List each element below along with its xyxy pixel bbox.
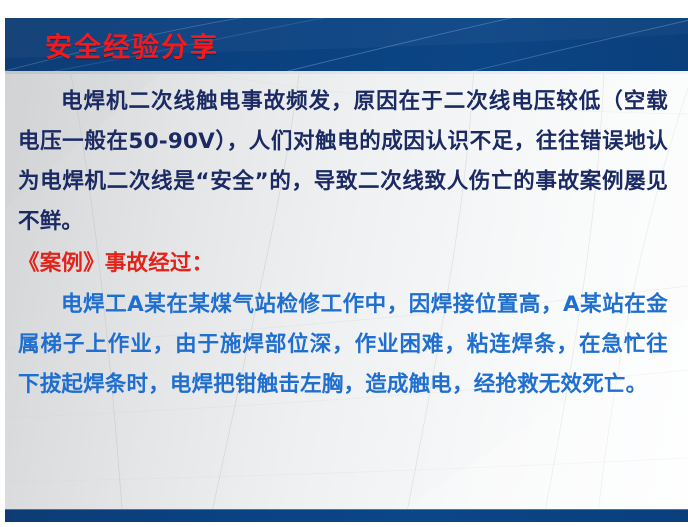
slide-footer-band bbox=[5, 509, 688, 522]
paragraph-background-description: 电焊机二次线触电事故频发，原因在于二次线电压较低（空载电压一般在50-90V），… bbox=[18, 82, 668, 242]
slide-header-band: 安全经验分享 bbox=[5, 18, 688, 71]
header-divider bbox=[5, 71, 688, 74]
presentation-slide: 安全经验分享 电焊机二次线触电事故频发，原因在于二次线电压较低（空载电压一般在5… bbox=[0, 0, 688, 527]
page-title: 安全经验分享 bbox=[45, 25, 219, 64]
case-heading: 《案例》事故经过： bbox=[18, 244, 668, 284]
paragraph-case-narrative: 电焊工A某在某煤气站检修工作中，因焊接位置高，A某站在金属梯子上作业，由于施焊部… bbox=[18, 285, 668, 405]
slide-body: 电焊机二次线触电事故频发，原因在于二次线电压较低（空载电压一般在50-90V），… bbox=[18, 82, 668, 405]
